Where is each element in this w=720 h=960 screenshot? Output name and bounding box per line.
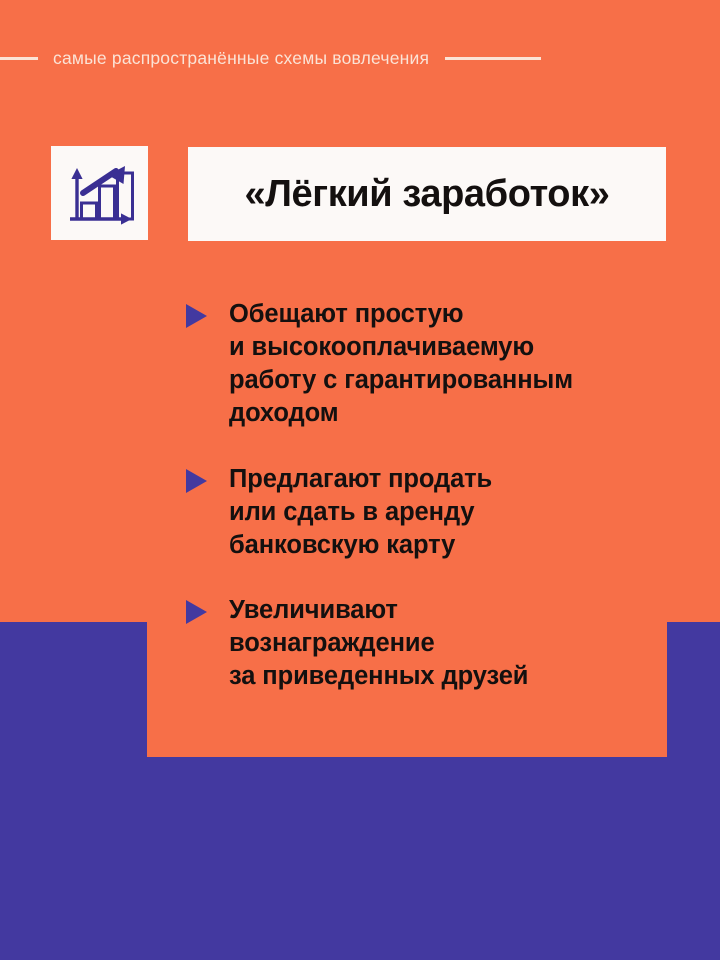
bullet-list: Обещают простую и высокооплачиваемую раб… (186, 298, 666, 693)
triangle-right-icon (186, 600, 208, 624)
bullet-line: работу с гарантированным (229, 364, 573, 397)
header-strip: самые распространённые схемы вовлечения (0, 42, 720, 74)
bullet-line: или сдать в аренду (229, 496, 492, 529)
bullet-text-1: Обещают простую и высокооплачиваемую раб… (229, 298, 573, 431)
header-rule-right (445, 57, 541, 60)
triangle-right-icon (186, 304, 208, 328)
header-rule-left (0, 57, 38, 60)
bullet-line: банковскую карту (229, 529, 492, 562)
growth-bar-chart-icon (64, 158, 136, 228)
bullet-line: Обещают простую (229, 298, 573, 331)
bullet-item-1: Обещают простую и высокооплачиваемую раб… (186, 298, 666, 431)
bullet-line: доходом (229, 397, 573, 430)
bullet-line: и высокооплачиваемую (229, 331, 573, 364)
bullet-text-3: Увеличивают вознаграждение за приведенны… (229, 594, 528, 693)
bullet-text-2: Предлагают продать или сдать в аренду ба… (229, 463, 492, 562)
header-title: самые распространённые схемы вовлечения (53, 48, 429, 69)
bullet-item-3: Увеличивают вознаграждение за приведенны… (186, 594, 666, 693)
title-card: «Лёгкий заработок» (188, 147, 666, 241)
bullet-line: вознаграждение (229, 627, 528, 660)
bullet-line: за приведенных друзей (229, 660, 528, 693)
icon-tile (51, 146, 148, 240)
triangle-right-icon (186, 469, 208, 493)
bullet-line: Увеличивают (229, 594, 528, 627)
title-card-text: «Лёгкий заработок» (245, 173, 610, 216)
bullet-item-2: Предлагают продать или сдать в аренду ба… (186, 463, 666, 562)
bullet-line: Предлагают продать (229, 463, 492, 496)
